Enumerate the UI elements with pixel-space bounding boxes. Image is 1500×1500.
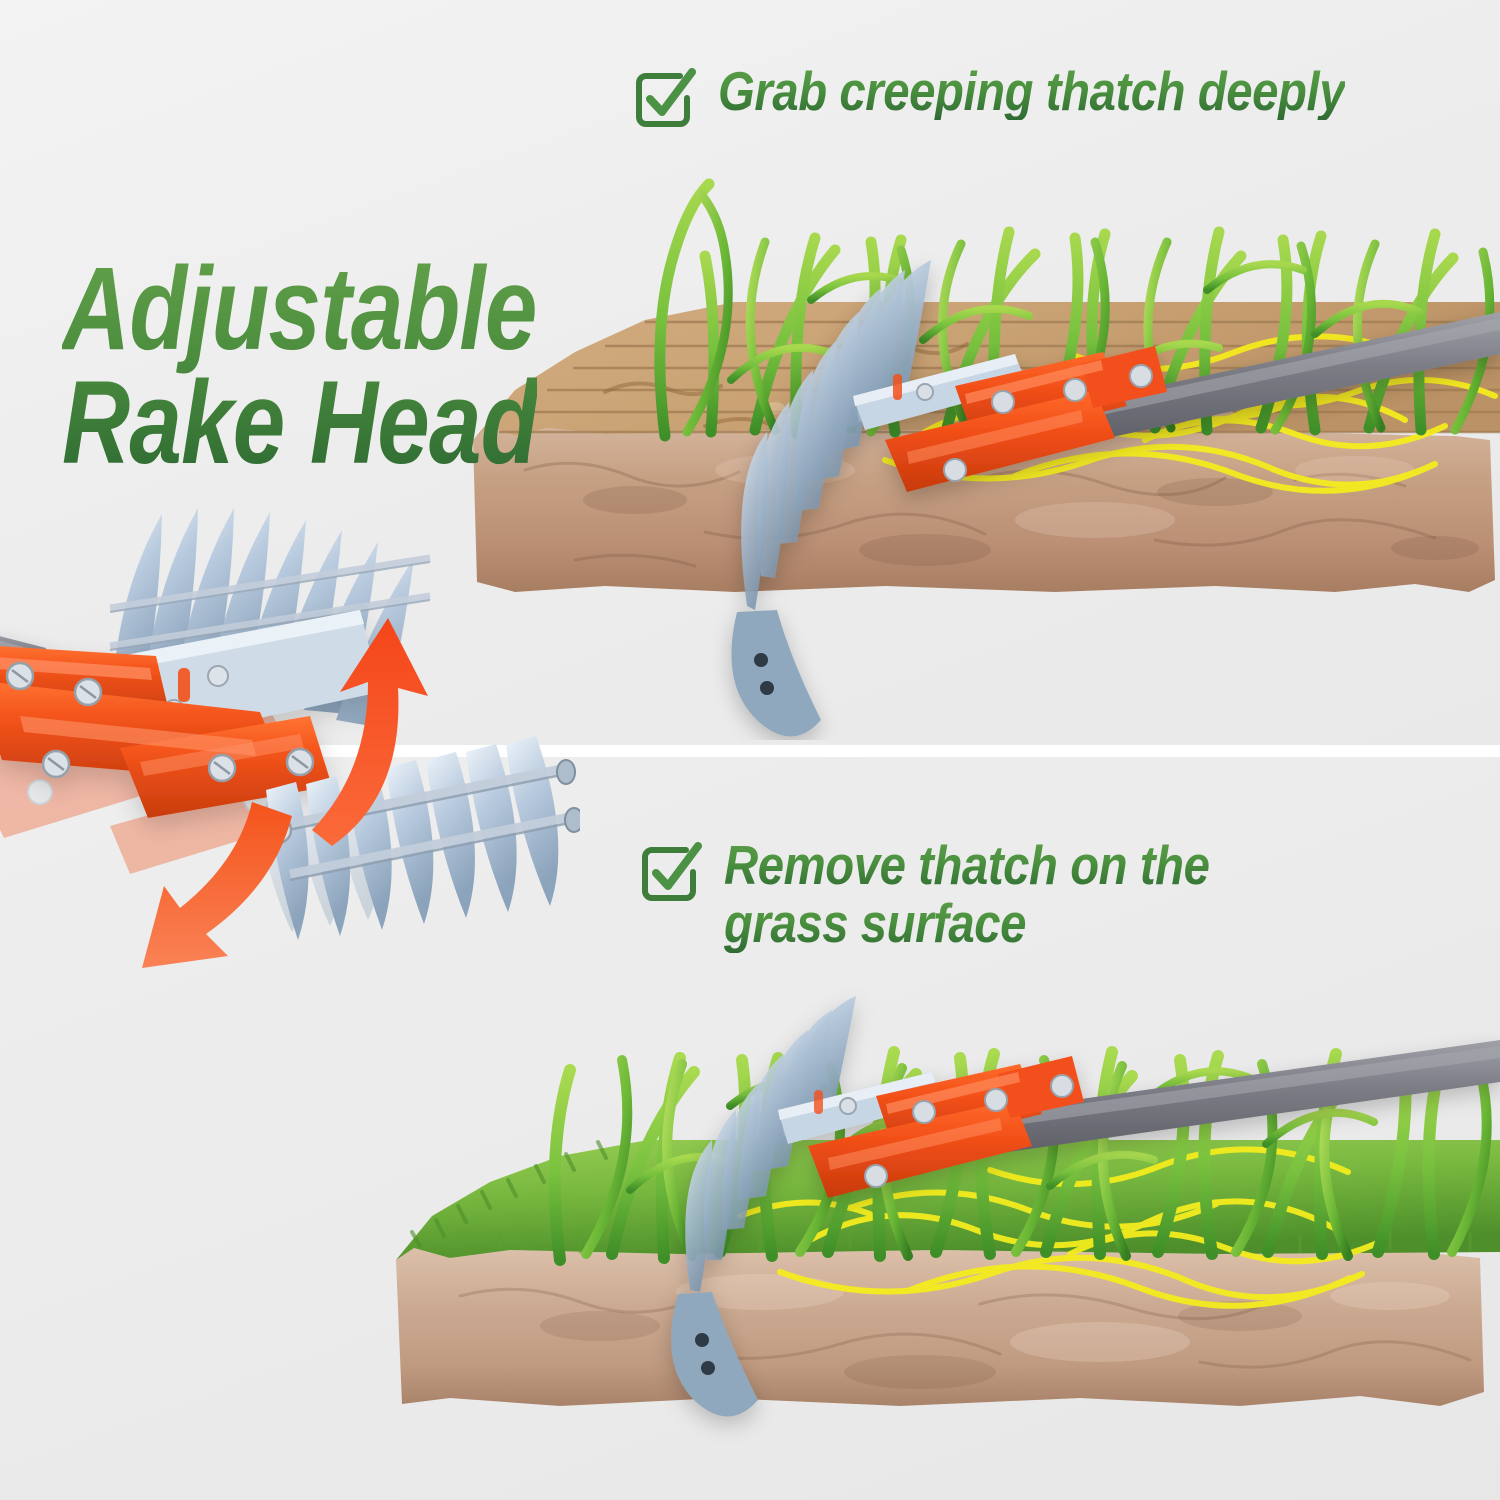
feature-remove-surface-line-1: Remove thatch on the: [724, 836, 1209, 894]
infographic-canvas: AdjustableRake Head Grab creeping thatch…: [0, 0, 1500, 1500]
page-title: AdjustableRake Head: [62, 252, 538, 481]
scene-deep-thatch: [455, 140, 1500, 740]
checkbox-checked-icon: [640, 842, 702, 904]
title-line-2: Rake Head: [62, 357, 538, 489]
feature-remove-surface-line-2: grass surface: [724, 894, 1209, 952]
feature-grab-thatch-label: Grab creeping thatch deeply: [718, 62, 1345, 120]
soil-block-bottom: [396, 1248, 1484, 1406]
scene-grass-surface: [380, 960, 1500, 1500]
title-line-1: Adjustable: [62, 243, 537, 375]
hero-adjustable-rake: [0, 500, 580, 1020]
feature-remove-surface: Remove thatch on the grass surface: [640, 836, 1289, 953]
feature-grab-thatch: Grab creeping thatch deeply: [634, 62, 1447, 130]
checkbox-checked-icon: [634, 68, 696, 130]
